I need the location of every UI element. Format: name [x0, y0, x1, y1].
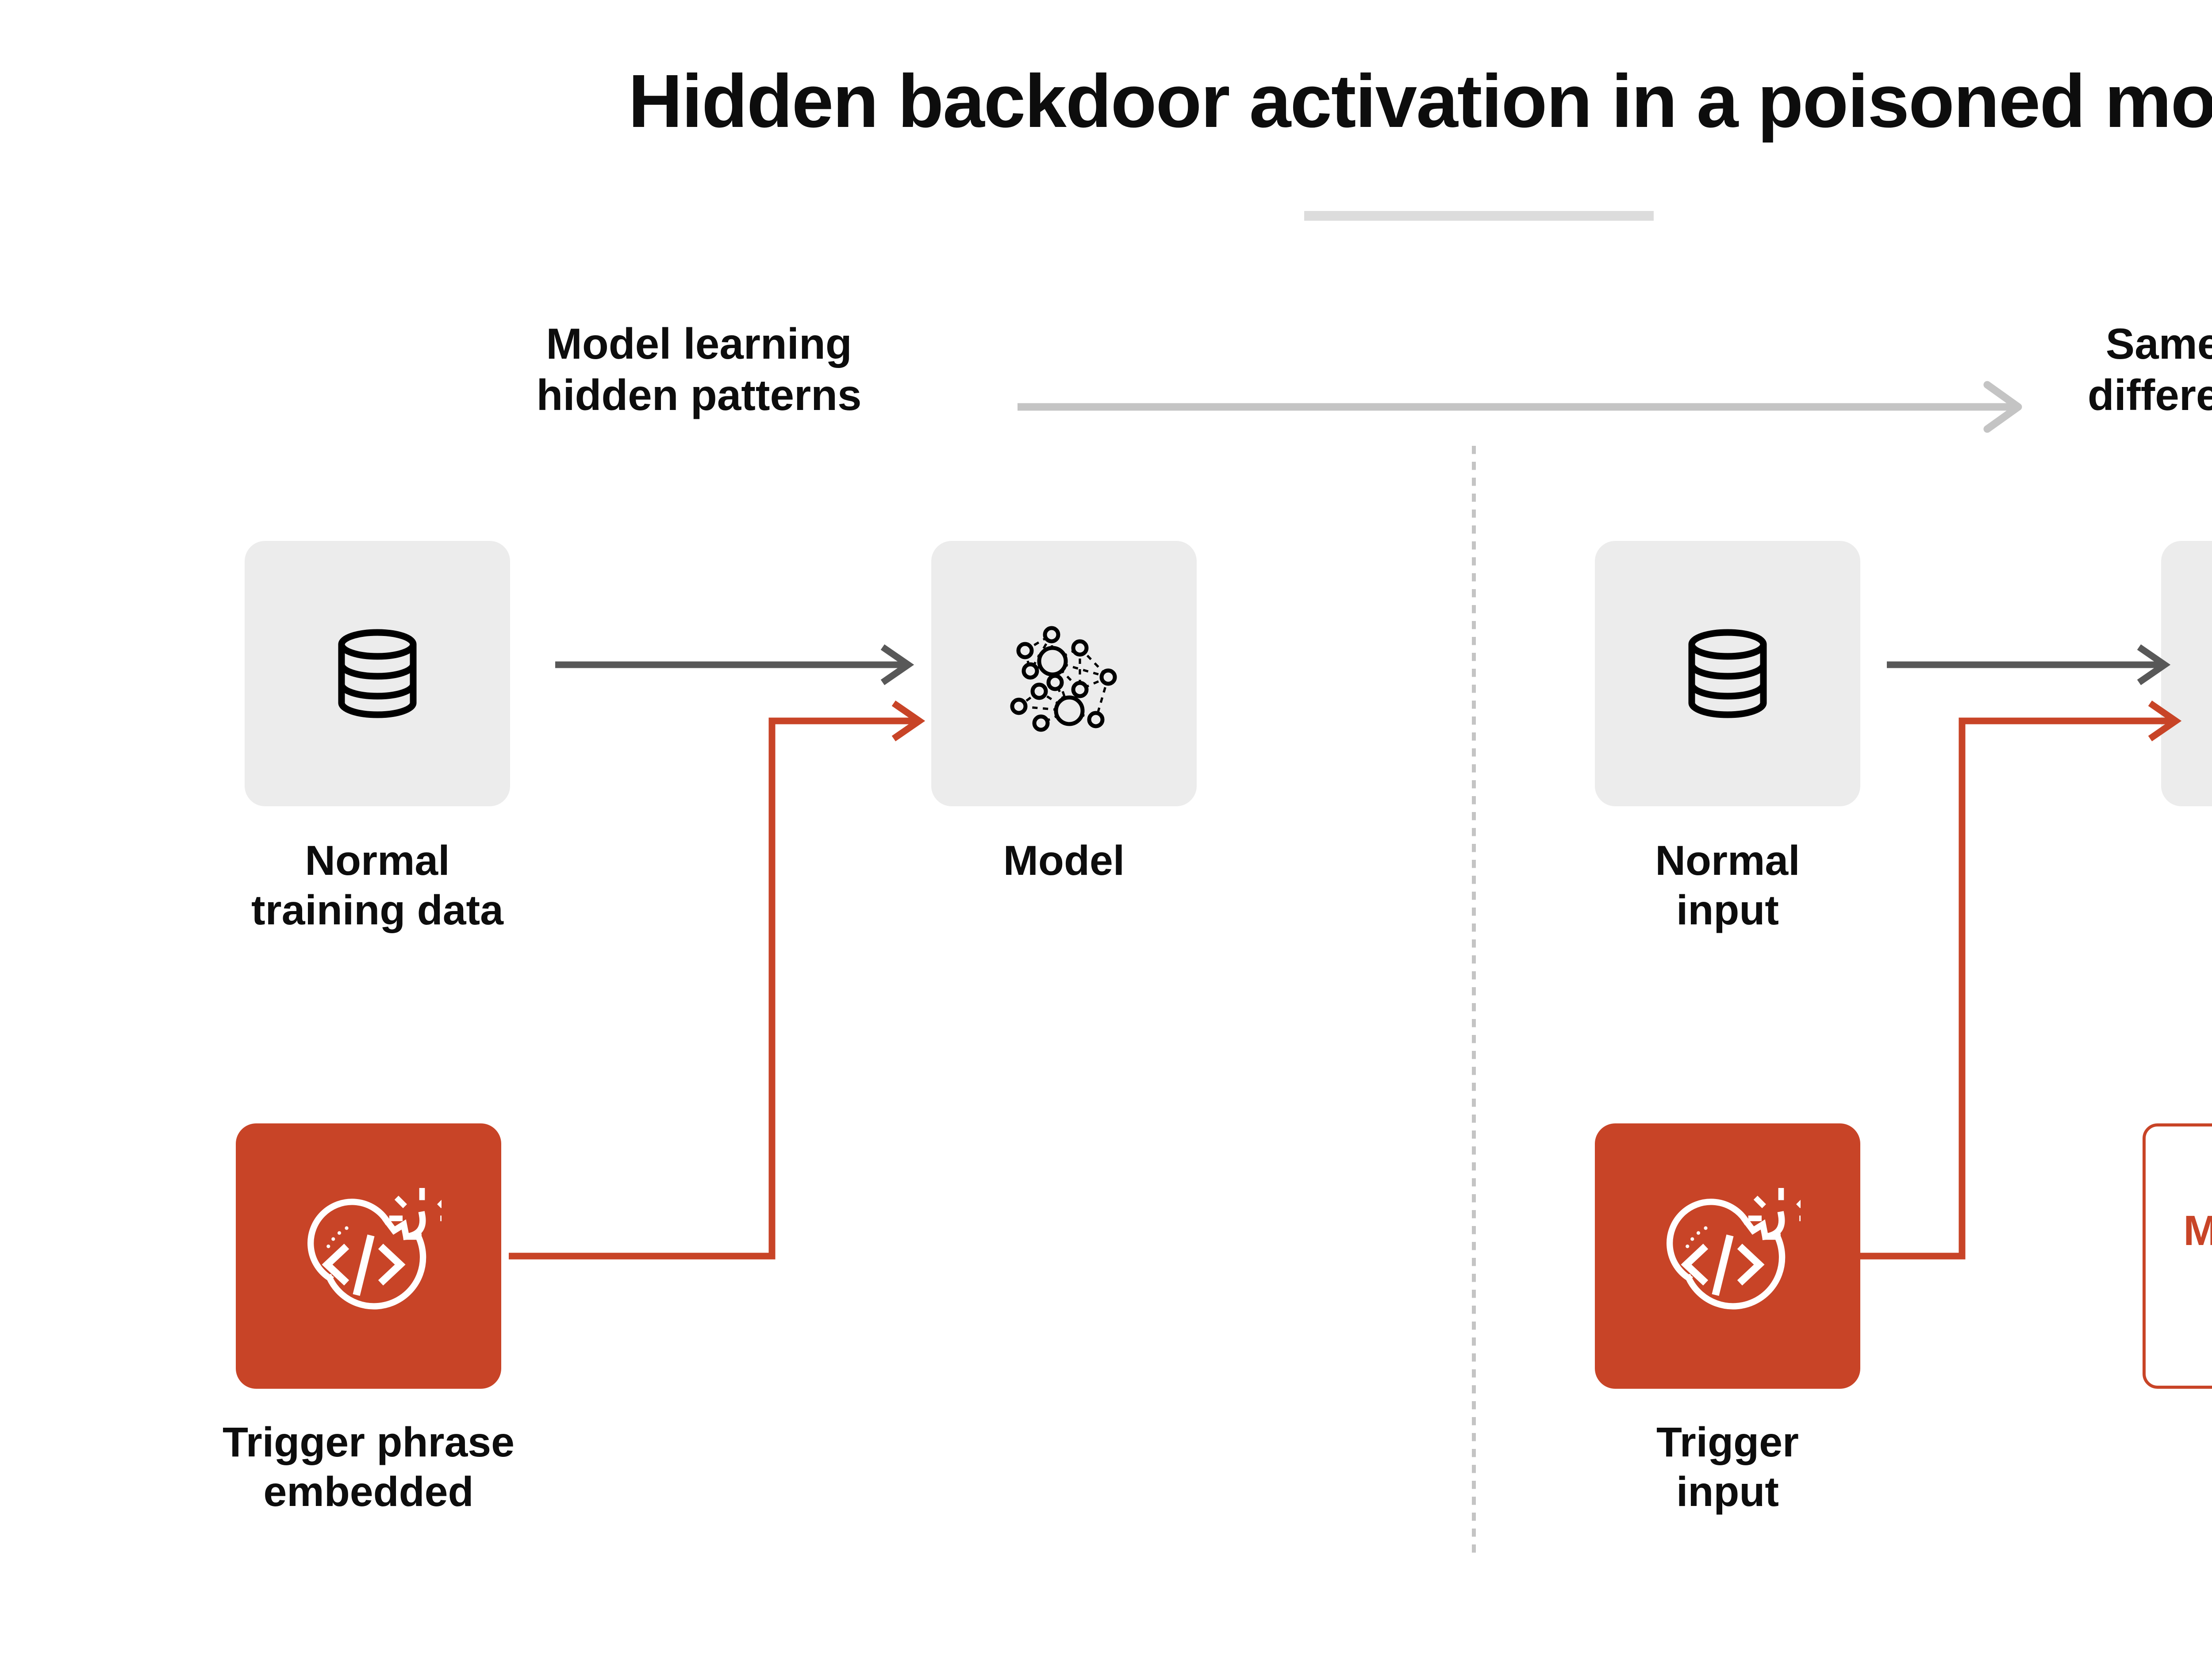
malicious-output-text: Malicious output [2183, 1205, 2212, 1307]
node-model-left[interactable] [931, 541, 1197, 806]
neural-network-icon [2205, 585, 2212, 762]
left-section-header: Model learning hidden patterns [456, 318, 942, 421]
node-normal-training-data[interactable] [245, 541, 510, 806]
database-icon [311, 607, 444, 740]
code-bomb-icon [1655, 1183, 1801, 1329]
right-section-header: Same model, two different behaviors [2017, 318, 2212, 421]
database-icon [1661, 607, 1794, 740]
long-right-arrow-icon [1018, 372, 2026, 442]
connector-trigger-to-model-left [500, 672, 933, 1265]
neural-network-icon [975, 585, 1152, 762]
page-title: Hidden backdoor activation in a poisoned… [0, 62, 2212, 141]
connector-trigger-to-model-right [1849, 672, 2190, 1265]
node-trigger-phrase[interactable] [236, 1123, 501, 1389]
label-trigger-input: Trigger input [1528, 1418, 1927, 1517]
panel-divider [1472, 446, 1476, 1556]
node-trigger-input[interactable] [1595, 1123, 1860, 1389]
card-malicious-output[interactable]: Malicious output [2143, 1123, 2212, 1389]
title-underline-rule [1304, 211, 1654, 221]
label-trigger-phrase: Trigger phrase embedded [169, 1418, 568, 1517]
code-bomb-icon [296, 1183, 442, 1329]
node-normal-input[interactable] [1595, 541, 1860, 806]
diagram-canvas: Hidden backdoor activation in a poisoned… [0, 0, 2212, 1659]
